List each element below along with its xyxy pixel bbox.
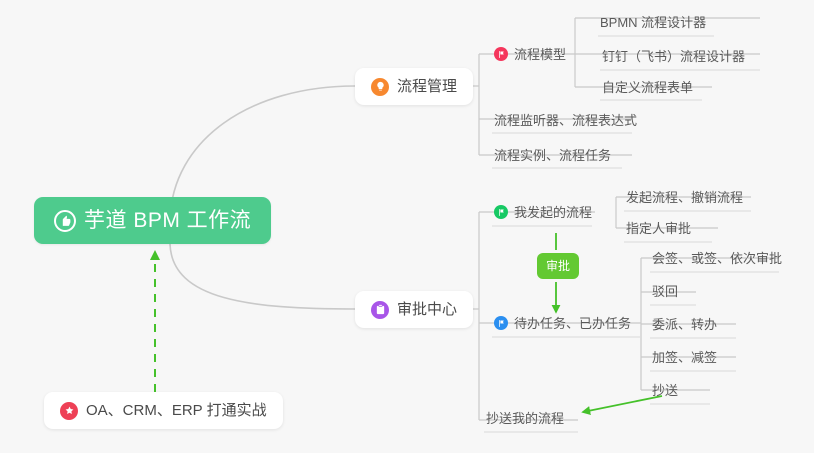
node-bpmn-designer[interactable]: BPMN 流程设计器 — [598, 9, 712, 35]
branch-node-process-management[interactable]: 流程管理 — [355, 68, 473, 105]
node-label: BPMN 流程设计器 — [600, 16, 706, 29]
node-label: 驳回 — [652, 285, 678, 298]
node-label: 流程模型 — [514, 48, 566, 61]
branch-label: 审批中心 — [397, 302, 457, 317]
node-label: 抄送我的流程 — [486, 412, 564, 425]
node-process-instance[interactable]: 流程实例、流程任务 — [492, 142, 617, 168]
node-label: 流程实例、流程任务 — [494, 149, 611, 162]
root-node[interactable]: 芋道 BPM 工作流 — [34, 197, 271, 244]
clipboard-icon — [371, 301, 389, 319]
node-label: 会签、或签、依次审批 — [652, 252, 782, 265]
node-my-initiated-process[interactable]: 我发起的流程 — [492, 199, 598, 225]
thumbs-up-icon — [54, 210, 76, 232]
node-dingtalk-feishu-designer[interactable]: 钉钉（飞书）流程设计器 — [600, 43, 751, 69]
node-label: 流程监听器、流程表达式 — [494, 114, 637, 127]
node-label: 加签、减签 — [652, 351, 717, 364]
branch-node-approval-center[interactable]: 审批中心 — [355, 291, 473, 328]
node-reject[interactable]: 驳回 — [650, 278, 684, 304]
flag-red-icon — [494, 47, 508, 61]
node-countersign[interactable]: 会签、或签、依次审批 — [650, 245, 788, 271]
node-label: 待办任务、已办任务 — [514, 317, 631, 330]
node-label: 自定义流程表单 — [602, 81, 693, 94]
node-process-model[interactable]: 流程模型 — [492, 41, 572, 67]
node-label: 发起流程、撤销流程 — [626, 191, 743, 204]
lightbulb-icon — [371, 78, 389, 96]
node-todo-done-tasks[interactable]: 待办任务、已办任务 — [492, 310, 637, 336]
badge-label: 审批 — [546, 260, 570, 272]
node-cc-to-me[interactable]: 抄送我的流程 — [484, 405, 570, 431]
node-label: 钉钉（飞书）流程设计器 — [602, 50, 745, 63]
root-label: 芋道 BPM 工作流 — [84, 210, 251, 231]
edge-root-to-approval-center — [170, 244, 355, 309]
node-process-listener[interactable]: 流程监听器、流程表达式 — [492, 107, 643, 133]
mindmap-canvas: 芋道 BPM 工作流 流程管理 流程模型 BPMN 流程设计器 钉钉（飞书）流程… — [0, 0, 814, 453]
node-label: 委派、转办 — [652, 318, 717, 331]
node-add-remove-sign[interactable]: 加签、减签 — [650, 344, 723, 370]
node-assignee-approval[interactable]: 指定人审批 — [624, 215, 697, 241]
flag-green-icon — [494, 205, 508, 219]
node-label: 指定人审批 — [626, 222, 691, 235]
node-delegate-transfer[interactable]: 委派、转办 — [650, 311, 723, 337]
floating-label: OA、CRM、ERP 打通实战 — [86, 403, 267, 418]
node-cc[interactable]: 抄送 — [650, 377, 684, 403]
node-custom-process-form[interactable]: 自定义流程表单 — [600, 74, 699, 100]
approval-badge[interactable]: 审批 — [537, 253, 579, 279]
star-icon — [60, 402, 78, 420]
floating-node-oa-crm-erp[interactable]: OA、CRM、ERP 打通实战 — [44, 392, 283, 429]
flag-blue-icon — [494, 316, 508, 330]
node-start-cancel-process[interactable]: 发起流程、撤销流程 — [624, 184, 749, 210]
branch-label: 流程管理 — [397, 79, 457, 94]
node-label: 我发起的流程 — [514, 206, 592, 219]
node-label: 抄送 — [652, 384, 678, 397]
